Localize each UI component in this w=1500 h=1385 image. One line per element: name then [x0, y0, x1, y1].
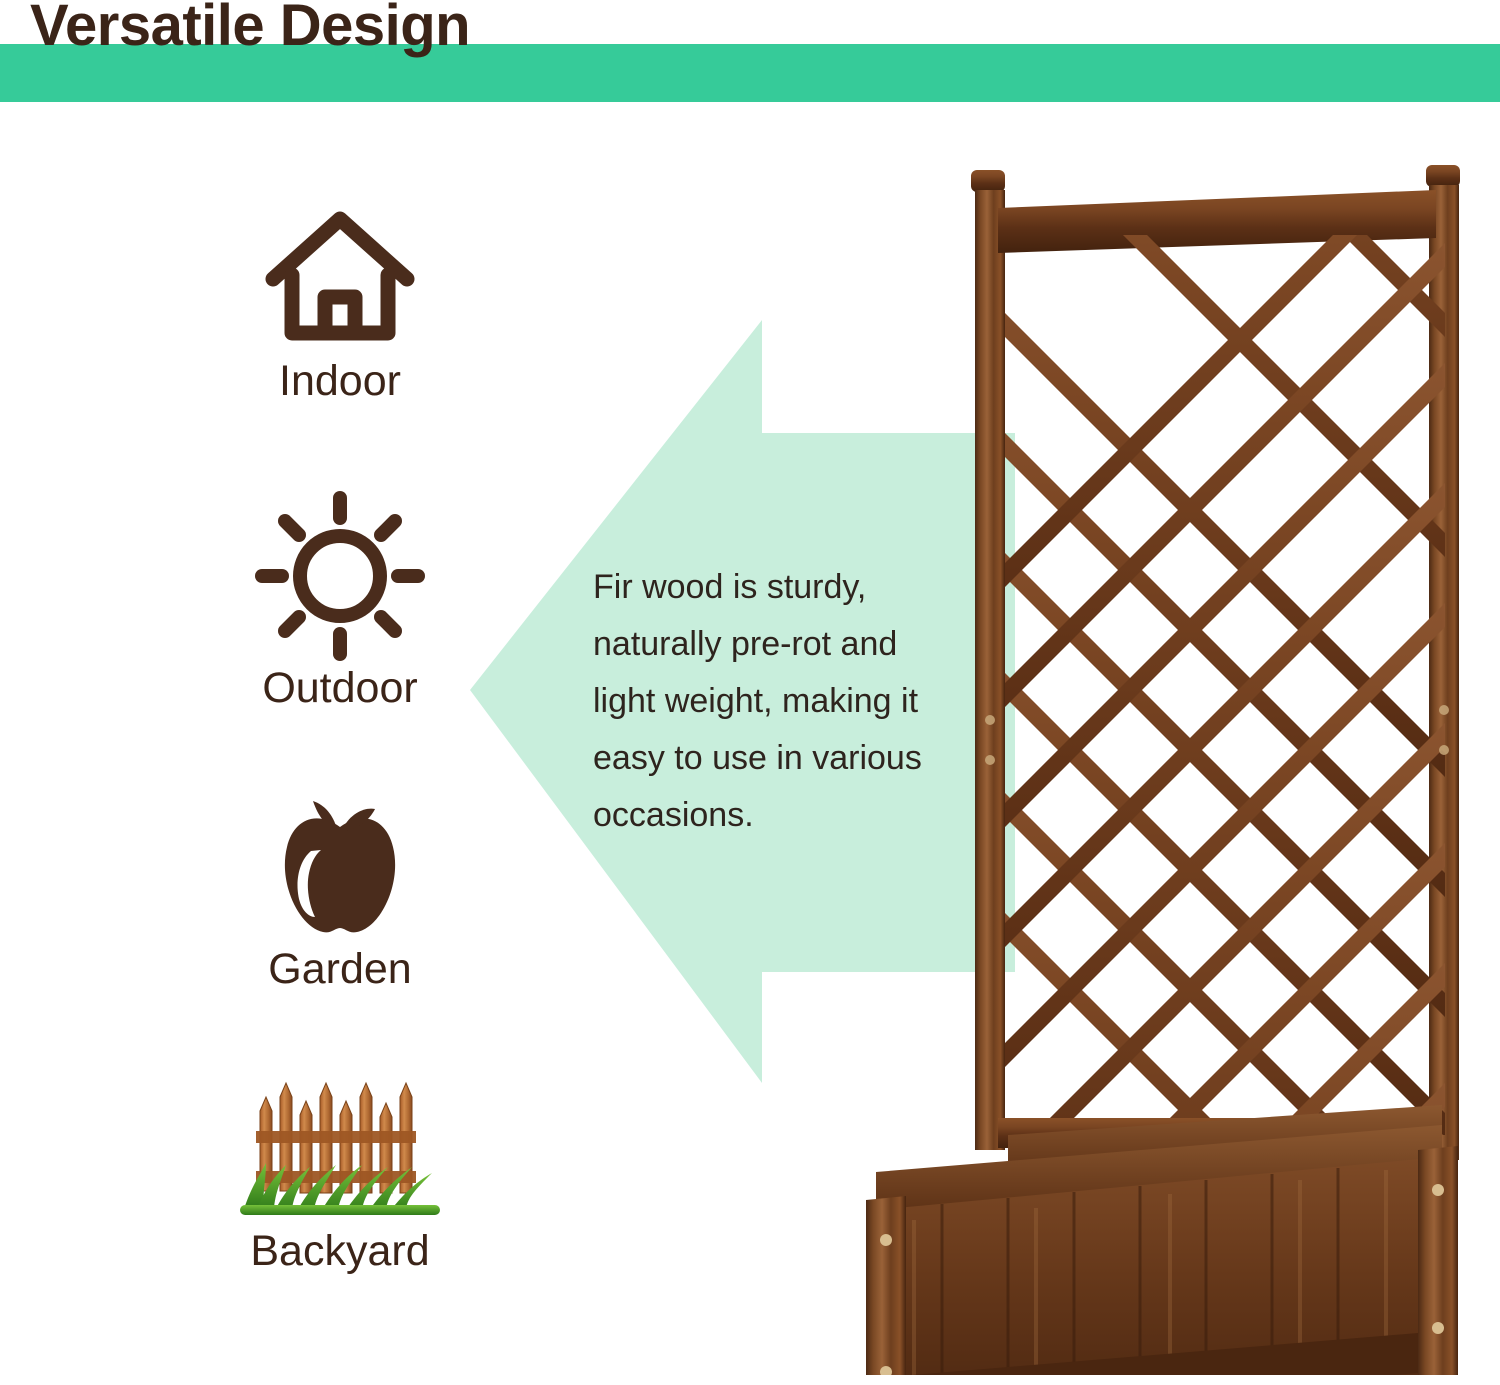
- product-image: [830, 150, 1490, 1375]
- feature-label-indoor: Indoor: [180, 360, 500, 403]
- page-title: Versatile Design: [30, 0, 470, 57]
- feature-item-indoor: Indoor: [180, 205, 500, 403]
- feature-item-outdoor: Outdoor: [180, 490, 500, 710]
- feature-item-backyard: Backyard: [180, 1075, 500, 1273]
- feature-label-garden: Garden: [180, 948, 500, 991]
- sun-icon: [180, 490, 500, 667]
- feature-label-backyard: Backyard: [180, 1230, 500, 1273]
- apple-icon: [180, 795, 500, 948]
- wooden-trellis-planter-icon: [830, 150, 1490, 1375]
- feature-item-garden: Garden: [180, 795, 500, 991]
- feature-label-outdoor: Outdoor: [180, 667, 500, 710]
- feature-icon-column: Indoor: [180, 150, 500, 1360]
- fence-icon: [180, 1075, 500, 1230]
- house-icon: [180, 205, 500, 360]
- infographic-canvas: Versatile Design Indoor: [0, 0, 1500, 1385]
